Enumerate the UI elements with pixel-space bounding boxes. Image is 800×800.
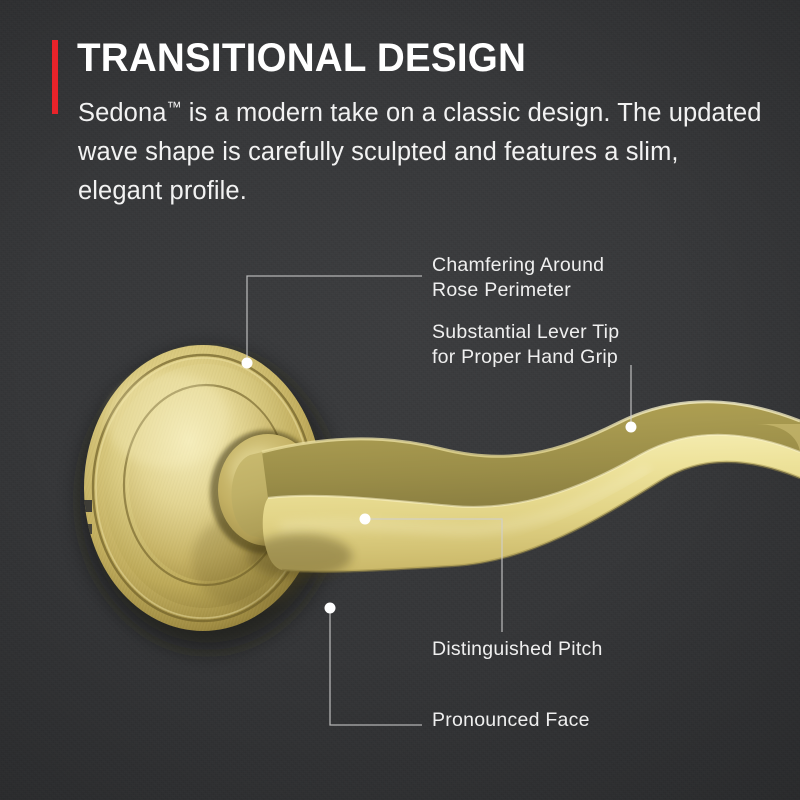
infographic-canvas: TRANSITIONAL DESIGN Sedona™ is a modern … bbox=[0, 0, 800, 800]
callout-pronounced-face: Pronounced Face bbox=[432, 708, 590, 733]
trademark-symbol: ™ bbox=[167, 99, 182, 116]
title-accent-bar bbox=[52, 40, 58, 114]
subtitle-brand: Sedona bbox=[78, 99, 167, 127]
rose-highlight bbox=[106, 372, 230, 468]
callout-substantial-lever-tip: Substantial Lever Tip for Proper Hand Gr… bbox=[432, 320, 619, 370]
lever-shadow-on-rose bbox=[248, 534, 352, 578]
callout-distinguished-pitch: Distinguished Pitch bbox=[432, 637, 603, 662]
page-subtitle: Sedona™ is a modern take on a classic de… bbox=[78, 88, 768, 211]
page-title: TRANSITIONAL DESIGN bbox=[77, 36, 526, 80]
callout-chamfering-around-rose-perimeter: Chamfering Around Rose Perimeter bbox=[432, 253, 604, 303]
